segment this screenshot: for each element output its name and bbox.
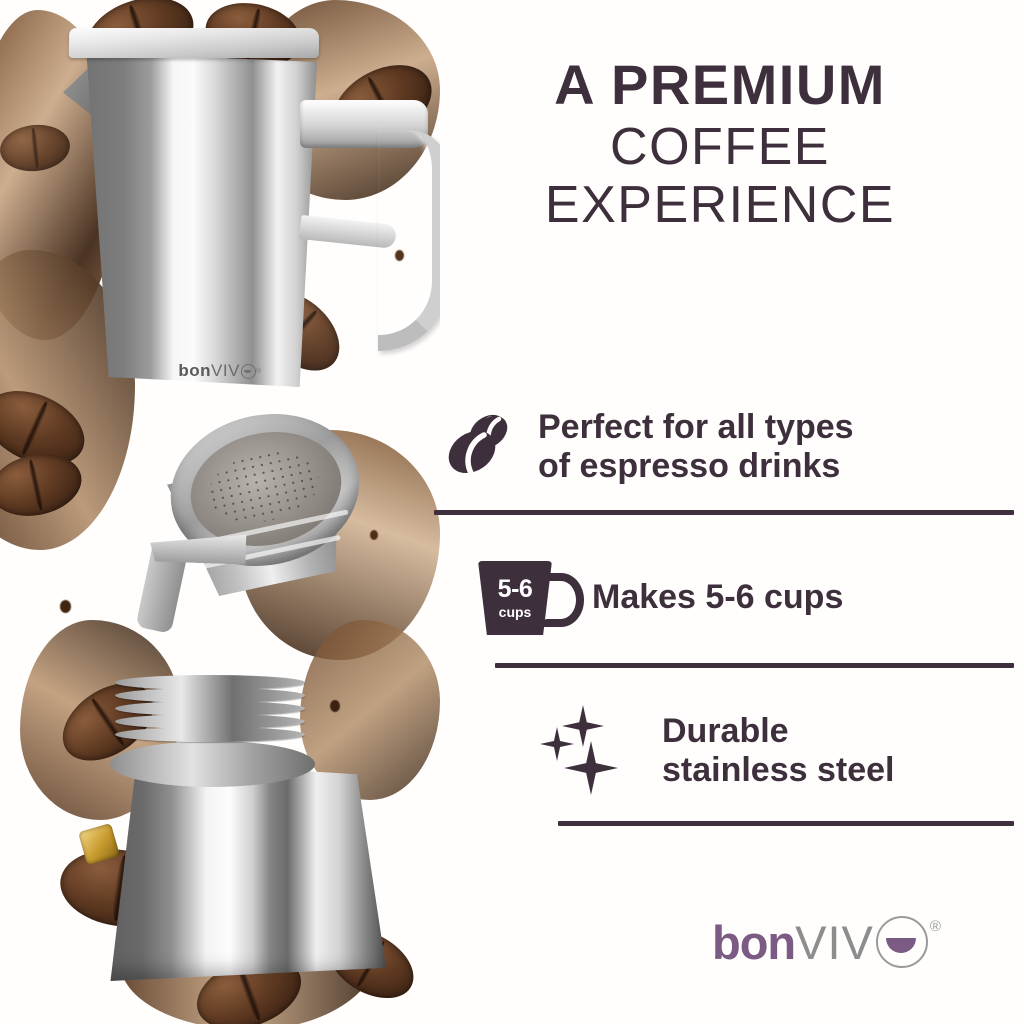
- feature-item-material: Durable stainless steel: [542, 696, 1024, 806]
- feature-list: Perfect for all types of espresso drinks…: [430, 392, 1024, 806]
- cup-body-icon: 5-6 cups: [478, 561, 552, 635]
- sparkles-icon: [542, 705, 634, 797]
- feature-2-line-1: Makes 5-6 cups: [592, 578, 843, 616]
- moka-pot-top-vessel: bonVIV®: [55, 28, 355, 388]
- boiler-threads: [115, 675, 305, 761]
- feature-divider-3: [558, 821, 1014, 826]
- brand-name-light: VIV: [795, 919, 874, 966]
- sparkle-small-icon: [540, 727, 574, 761]
- feature-1-line-1: Perfect for all types: [538, 408, 854, 446]
- feature-item-capacity: 5-6 cups Makes 5-6 cups: [478, 544, 1024, 652]
- headline-line-1: A PREMIUM: [430, 56, 1010, 114]
- feature-item-espresso-drinks: Perfect for all types of espresso drinks: [430, 392, 1024, 502]
- coffee-beans-icon: [442, 408, 516, 487]
- cup-badge-unit: cups: [499, 605, 532, 619]
- safety-valve-icon: [78, 823, 120, 865]
- moka-pot-bottom-boiler: [70, 675, 410, 1005]
- feature-text-capacity: Makes 5-6 cups: [592, 578, 843, 617]
- feature-1-line-2: of espresso drinks: [538, 447, 840, 485]
- cup-badge-count: 5-6: [498, 577, 533, 602]
- feature-text-espresso-drinks: Perfect for all types of espresso drinks: [538, 408, 854, 487]
- pot-body: [69, 52, 317, 387]
- sparkle-large-icon: [564, 741, 618, 795]
- feature-divider-2: [495, 663, 1014, 668]
- thread-ring: [115, 727, 305, 742]
- feature-3-line-2: stainless steel: [662, 751, 894, 789]
- cup-5-6-icon: 5-6 cups: [478, 561, 566, 635]
- pot-lid: [69, 28, 320, 58]
- product-engraved-logo: bonVIV®: [160, 358, 280, 384]
- feature-3-line-1: Durable: [662, 712, 789, 750]
- engraved-logo-bold: bon: [178, 361, 211, 381]
- engraved-registered-mark: ®: [256, 368, 262, 375]
- headline-line-2: COFFEE: [430, 120, 1010, 174]
- page-title: A PREMIUM COFFEE EXPERIENCE: [430, 56, 1010, 232]
- moka-pot-filter-funnel: [150, 405, 380, 645]
- engraved-logo-o-icon: [241, 364, 256, 379]
- feature-text-material: Durable stainless steel: [662, 712, 894, 791]
- boiler-body: [96, 761, 386, 981]
- product-photo: bonVIV®: [0, 0, 440, 1024]
- engraved-logo-light: VIV: [211, 361, 240, 381]
- pot-handle: [300, 100, 430, 330]
- marketing-banner: bonVIV®: [0, 0, 1024, 1024]
- sparkle-medium-icon: [562, 705, 604, 747]
- brand-name-bold: bon: [712, 919, 795, 966]
- coffee-droplet: [60, 600, 71, 613]
- brand-logo-smile-icon: [886, 938, 916, 953]
- feature-divider-1: [434, 510, 1014, 515]
- headline-line-3: EXPERIENCE: [430, 178, 1010, 232]
- content-panel: A PREMIUM COFFEE EXPERIENCE: [430, 0, 1024, 1024]
- registered-trademark-mark: ®: [930, 918, 941, 935]
- brand-logo: bon VIV ®: [712, 916, 941, 968]
- brand-logo-o-icon: [876, 916, 928, 968]
